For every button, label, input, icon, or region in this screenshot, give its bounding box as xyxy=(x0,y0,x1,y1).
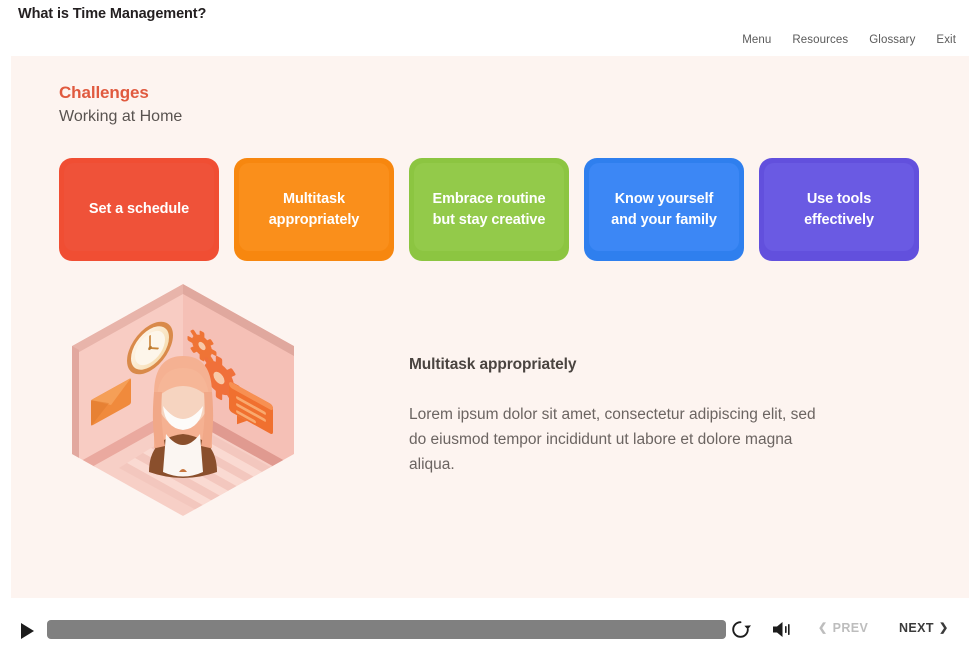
play-icon[interactable] xyxy=(18,622,36,640)
nav-item-exit[interactable]: Exit xyxy=(936,34,956,46)
nav-item-glossary[interactable]: Glossary xyxy=(869,34,915,46)
progress-scrubber[interactable] xyxy=(47,620,726,639)
detail-body: Lorem ipsum dolor sit amet, consectetur … xyxy=(409,402,829,477)
next-button-label: NEXT xyxy=(899,621,934,635)
nav-item-resources[interactable]: Resources xyxy=(792,34,848,46)
challenge-card-know-yourself[interactable]: Know yourself and your family xyxy=(584,158,744,261)
player-control-bar: ❮ PREV NEXT ❯ xyxy=(0,603,980,658)
challenge-card-set-a-schedule[interactable]: Set a schedule xyxy=(59,158,219,261)
card-label: Use tools effectively xyxy=(796,189,882,230)
card-label: Set a schedule xyxy=(81,199,197,220)
challenge-card-multitask-appropriately[interactable]: Multitask appropriately xyxy=(234,158,394,261)
card-label: Multitask appropriately xyxy=(261,189,368,230)
challenge-card-row: Set a schedule Multitask appropriately E… xyxy=(59,158,919,261)
progress-fill xyxy=(47,620,726,639)
card-label: Know yourself and your family xyxy=(603,189,725,230)
chevron-right-icon: ❯ xyxy=(939,623,949,634)
section-subtitle: Working at Home xyxy=(59,108,182,126)
replay-icon[interactable] xyxy=(730,619,751,640)
card-label: Embrace routine but stay creative xyxy=(425,189,554,230)
challenge-card-use-tools[interactable]: Use tools effectively xyxy=(759,158,919,261)
next-button[interactable]: NEXT ❯ xyxy=(899,621,949,635)
page-title: What is Time Management? xyxy=(18,6,206,22)
volume-icon[interactable] xyxy=(771,619,793,640)
course-slide: What is Time Management? Menu Resources … xyxy=(0,0,980,658)
prev-button[interactable]: ❮ PREV xyxy=(818,621,868,635)
illustration-person-working-at-home xyxy=(59,276,307,524)
detail-title: Multitask appropriately xyxy=(409,356,829,374)
section-kicker: Challenges xyxy=(59,83,149,103)
content-panel: Challenges Working at Home Set a schedul… xyxy=(11,56,969,598)
detail-text-block: Multitask appropriately Lorem ipsum dolo… xyxy=(409,356,829,477)
chevron-left-icon: ❮ xyxy=(818,623,828,634)
top-navigation: Menu Resources Glossary Exit xyxy=(742,34,956,46)
challenge-card-embrace-routine[interactable]: Embrace routine but stay creative xyxy=(409,158,569,261)
prev-button-label: PREV xyxy=(833,621,869,635)
nav-item-menu[interactable]: Menu xyxy=(742,34,771,46)
